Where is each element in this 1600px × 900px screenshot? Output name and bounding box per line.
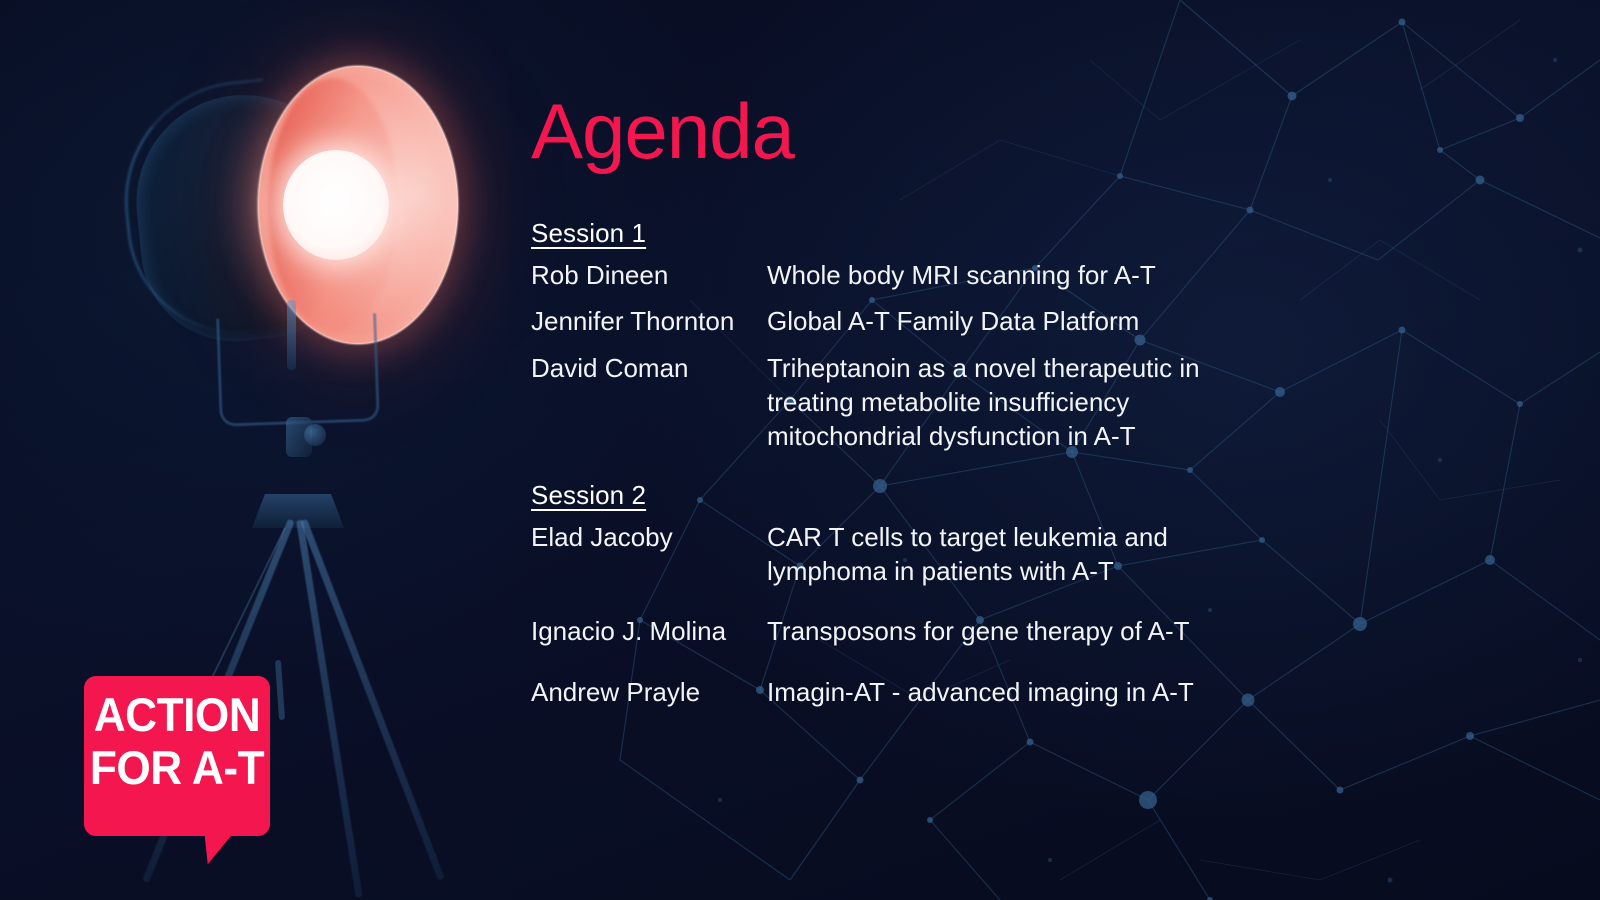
speaker-name: Rob Dineen: [531, 258, 767, 292]
agenda-row: Ignacio J. Molina Transposons for gene t…: [531, 614, 1291, 648]
talk-title: Imagin-AT - advanced imaging in A-T: [767, 675, 1291, 709]
logo-wordmark: ACTION FOR A-T: [84, 692, 270, 791]
tripod-knob-ball: [304, 424, 326, 446]
speaker-name: Elad Jacoby: [531, 520, 767, 554]
tripod-leg: [300, 519, 445, 881]
lamp-yoke: [216, 313, 380, 427]
agenda-row: Andrew Prayle Imagin-AT - advanced imagi…: [531, 675, 1291, 709]
logo-bubble-tail: [199, 834, 232, 864]
agenda-row: Rob Dineen Whole body MRI scanning for A…: [531, 258, 1291, 292]
speaker-name: Ignacio J. Molina: [531, 614, 767, 648]
tripod-knob: [286, 417, 312, 457]
agenda-list: Session 1 Rob Dineen Whole body MRI scan…: [531, 218, 1291, 721]
lamp-stem: [287, 300, 296, 370]
lamp-reflector: [258, 66, 458, 344]
tripod-collar: [252, 494, 344, 528]
talk-title: Triheptanoin as a novel therapeutic in t…: [767, 351, 1291, 454]
talk-title: Whole body MRI scanning for A-T: [767, 258, 1291, 292]
talk-title: Global A-T Family Data Platform: [767, 304, 1291, 338]
session-heading-1: Session 1: [531, 218, 1291, 249]
agenda-row: David Coman Triheptanoin as a novel ther…: [531, 351, 1291, 454]
lamp-housing: [126, 84, 365, 350]
speaker-name: Andrew Prayle: [531, 675, 767, 709]
logo-line-2: FOR A-T: [90, 745, 265, 791]
lamp-glow: [250, 118, 425, 296]
session-heading-2: Session 2: [531, 480, 1291, 511]
action-for-at-logo: ACTION FOR A-T: [84, 676, 270, 836]
lamp-reflector-edge: [257, 65, 459, 345]
lamp-reflector-shadow: [268, 78, 398, 332]
slide-canvas: Agenda Session 1 Rob Dineen Whole body M…: [0, 0, 1600, 900]
talk-title: Transposons for gene therapy of A-T: [767, 614, 1291, 648]
speaker-name: David Coman: [531, 351, 767, 385]
talk-title: CAR T cells to target leukemia and lymph…: [767, 520, 1291, 589]
lamp-housing-rim: [113, 79, 288, 343]
tripod-leg-brace: [275, 660, 285, 720]
agenda-row: Elad Jacoby CAR T cells to target leukem…: [531, 520, 1291, 589]
page-title: Agenda: [531, 92, 794, 170]
logo-line-1: ACTION: [90, 692, 265, 738]
lamp-bulb: [283, 150, 389, 260]
agenda-row: Jennifer Thornton Global A-T Family Data…: [531, 304, 1291, 338]
tripod-leg: [296, 519, 363, 897]
speaker-name: Jennifer Thornton: [531, 304, 767, 338]
